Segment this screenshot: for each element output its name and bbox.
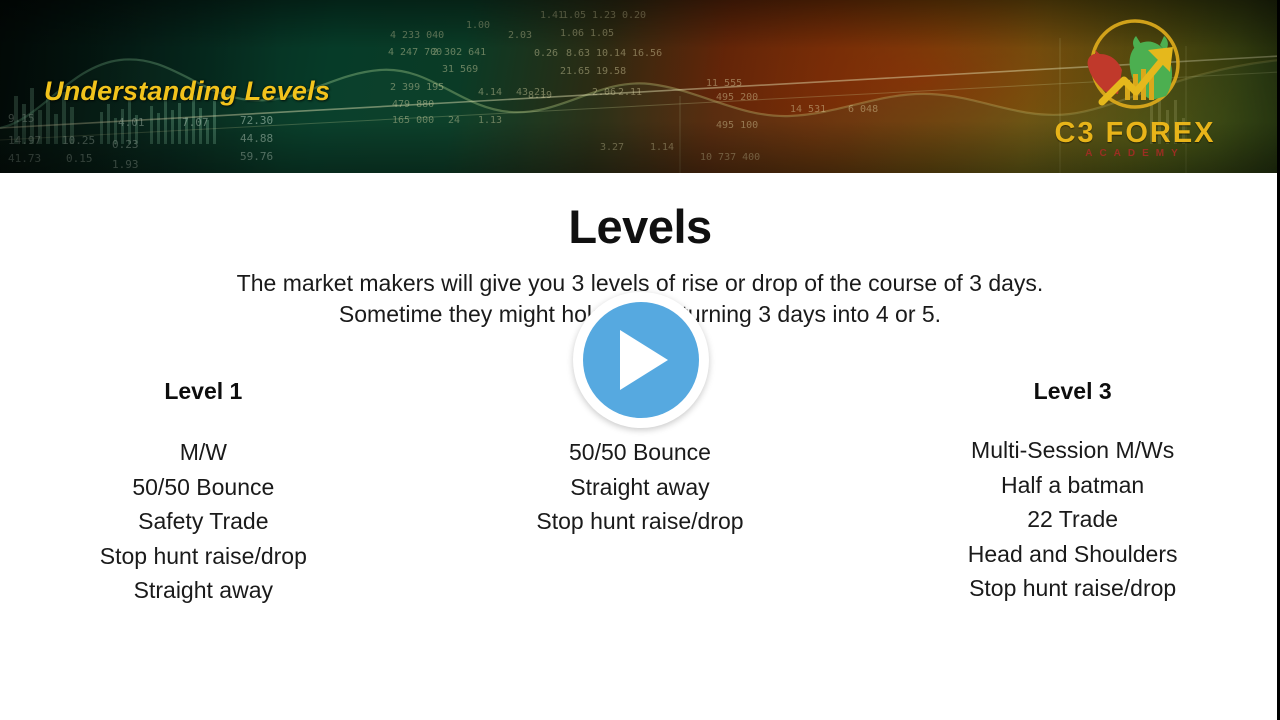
svg-text:2.03: 2.03 [508,30,532,41]
play-triangle-icon [620,330,668,390]
svg-text:1.05: 1.05 [590,28,614,39]
svg-text:2 399 195: 2 399 195 [390,82,444,93]
svg-text:0.15: 0.15 [66,152,93,165]
list-item: Straight away [427,470,854,505]
c3-forex-logo: C3 FOREX ACADEMY [1040,14,1230,162]
svg-text:0.23: 0.23 [112,138,139,151]
banner-title: Understanding Levels [44,76,330,107]
svg-text:1.93: 1.93 [112,158,139,171]
svg-text:495 200: 495 200 [716,92,758,103]
svg-text:165 000: 165 000 [392,115,434,126]
svg-text:4.14: 4.14 [478,87,502,98]
svg-text:6 048: 6 048 [848,104,878,115]
svg-text:41.73: 41.73 [8,152,41,165]
page-title: Levels [0,199,1280,254]
svg-text:14.97: 14.97 [8,134,41,147]
svg-text:10.14: 10.14 [596,48,626,59]
svg-text:0.26: 0.26 [534,48,558,59]
video-slide: 9.1514.9741.73 10.250.15 0.231.93 7.07 7… [0,0,1280,720]
list-item: Safety Trade [0,504,407,539]
list-item: Stop hunt raise/drop [427,504,854,539]
svg-text:9.15: 9.15 [8,112,35,125]
svg-text:1.06: 1.06 [560,28,584,39]
logo-wordmark: C3 FOREX [1040,117,1230,150]
svg-text:2 302 641: 2 302 641 [432,47,486,58]
svg-text:3.27: 3.27 [600,142,624,153]
svg-text:11 555: 11 555 [706,78,742,89]
list-item: Multi-Session M/Ws [865,433,1280,468]
level-2-items: 50/50 Bounce Straight away Stop hunt rai… [427,435,854,539]
svg-text:31 569: 31 569 [442,64,478,75]
level-3-items: Multi-Session M/Ws Half a batman 22 Trad… [865,433,1280,606]
svg-text:4 233 040: 4 233 040 [390,30,444,41]
slide-content: Levels The market makers will give you 3… [0,173,1280,720]
svg-text:4.01: 4.01 [118,116,145,129]
level-1-items: M/W 50/50 Bounce Safety Trade Stop hunt … [0,435,407,608]
list-item: Stop hunt raise/drop [865,571,1280,606]
logo-subtitle: ACADEMY [1040,148,1230,159]
svg-text:1.41: 1.41 [540,10,564,21]
svg-text:2.11: 2.11 [618,87,642,98]
svg-text:16.56: 16.56 [632,48,662,59]
svg-text:495 100: 495 100 [716,120,758,131]
list-item: Stop hunt raise/drop [0,539,407,574]
svg-text:8.63: 8.63 [566,48,590,59]
svg-text:479 880: 479 880 [392,99,434,110]
list-item: M/W [0,435,407,470]
svg-text:0.20: 0.20 [622,10,646,21]
list-item: Head and Shoulders [865,537,1280,572]
list-item: 50/50 Bounce [427,435,854,470]
svg-text:10 737 400: 10 737 400 [700,152,760,163]
svg-text:24: 24 [448,115,460,126]
svg-text:10.25: 10.25 [62,134,95,147]
level-column-3: Level 3 Multi-Session M/Ws Half a batman… [853,378,1280,668]
list-item: Half a batman [865,468,1280,503]
list-item: Straight away [0,573,407,608]
svg-text:1.00: 1.00 [466,20,490,31]
svg-text:19.58: 19.58 [596,66,626,77]
svg-text:14 531: 14 531 [790,104,826,115]
list-item: 50/50 Bounce [0,470,407,505]
svg-text:44.88: 44.88 [240,132,273,145]
level-column-1: Level 1 M/W 50/50 Bounce Safety Trade St… [0,378,427,668]
svg-text:1.05: 1.05 [562,10,586,21]
svg-text:1.14: 1.14 [650,142,674,153]
level-3-heading: Level 3 [865,378,1280,405]
svg-text:59.76: 59.76 [240,150,273,163]
level-1-heading: Level 1 [0,378,407,405]
svg-text:8.19: 8.19 [528,90,552,101]
svg-text:72.30: 72.30 [240,114,273,127]
svg-text:21.65: 21.65 [560,66,590,77]
svg-text:2.06: 2.06 [592,87,616,98]
svg-text:1.23: 1.23 [592,10,616,21]
svg-text:1.13: 1.13 [478,115,502,126]
list-item: 22 Trade [865,502,1280,537]
slide-banner: 9.1514.9741.73 10.250.15 0.231.93 7.07 7… [0,0,1280,173]
svg-text:7.07: 7.07 [182,116,209,129]
play-button[interactable] [573,292,709,428]
